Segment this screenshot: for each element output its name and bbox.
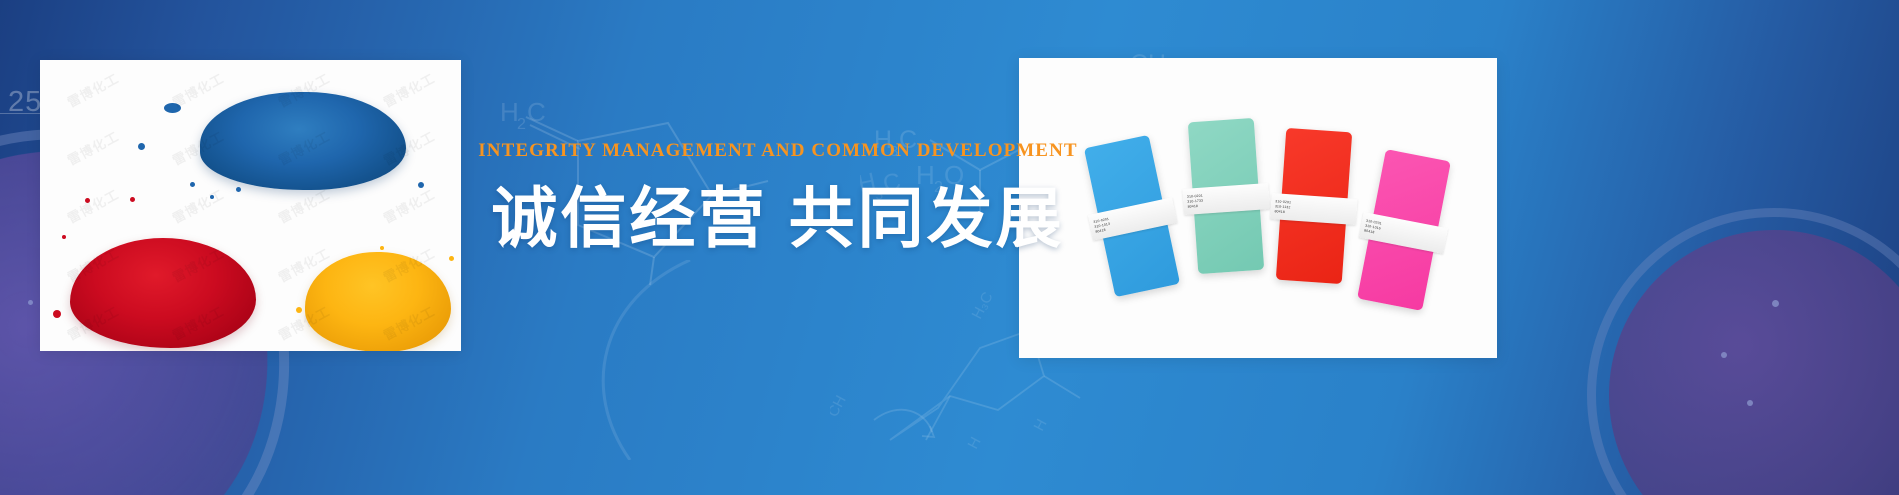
svg-text:H: H	[500, 97, 519, 127]
red-pigment-powder	[70, 238, 256, 348]
bubble-dot	[1747, 400, 1753, 406]
powder-speck	[236, 187, 241, 192]
svg-text:H: H	[1031, 416, 1051, 434]
flask-circle-decor	[1609, 230, 1899, 495]
svg-text:H₃C: H₃C	[969, 290, 997, 322]
powder-speck	[190, 182, 195, 187]
swatch-green: 310-0201 310-1733 80418	[1188, 118, 1264, 274]
flask-ring-decor	[1587, 208, 1899, 495]
powder-speck	[164, 103, 181, 113]
headline-chinese: 诚信经营 共同发展	[468, 182, 1088, 256]
powder-speck	[85, 198, 90, 203]
product-photo-color-swatches: 310-0201 310-1013 80418 310-0201 310-173…	[1019, 58, 1497, 358]
svg-text:H: H	[965, 434, 985, 452]
powder-speck	[380, 246, 384, 250]
powder-speck	[130, 197, 135, 202]
watermark-text: 雷博化工	[40, 60, 153, 139]
arc-decor	[560, 260, 700, 460]
swatch-label-band: 310-0201 310-1013 80418	[1088, 197, 1178, 240]
swatch-red: 310-0201 310-1132 80418	[1276, 128, 1352, 284]
blue-pigment-powder	[200, 92, 406, 190]
svg-text:2: 2	[517, 116, 526, 133]
banner-text-block: INTEGRITY MANAGEMENT AND COMMON DEVELOPM…	[468, 140, 1088, 256]
watermark-text: 雷博化工	[40, 97, 153, 198]
bubble-dot	[1772, 300, 1779, 307]
bubble-dot	[1721, 352, 1727, 358]
tagline-english: INTEGRITY MANAGEMENT AND COMMON DEVELOPM…	[468, 140, 1088, 162]
powder-speck	[418, 182, 424, 188]
swatch-pink: 310-0201 310-1016 80418	[1357, 149, 1451, 311]
powder-speck	[449, 256, 454, 261]
svg-text:C: C	[527, 97, 546, 127]
powder-speck	[53, 310, 61, 318]
powder-speck	[62, 235, 66, 239]
svg-text:CH: CH	[830, 393, 850, 420]
swatch-blue: 310-0201 310-1013 80418	[1084, 135, 1180, 297]
powder-speck	[210, 195, 214, 199]
swatch-label-band: 310-0201 310-1132 80418	[1270, 193, 1358, 225]
swatch-label-band: 310-0201 310-1733 80418	[1182, 183, 1270, 215]
bubble-dot	[28, 300, 33, 305]
product-photo-pigment-powders: 雷博化工 雷博化工 雷博化工 雷博化工 雷博化工 雷博化工 雷博化工 雷博化工 …	[40, 60, 461, 351]
promo-banner: 250 H 2 C H	[0, 0, 1899, 495]
yellow-pigment-powder	[305, 252, 451, 351]
powder-speck	[296, 307, 302, 313]
swatch-label-band: 310-0201 310-1016 80418	[1359, 212, 1448, 254]
powder-speck	[138, 143, 145, 150]
